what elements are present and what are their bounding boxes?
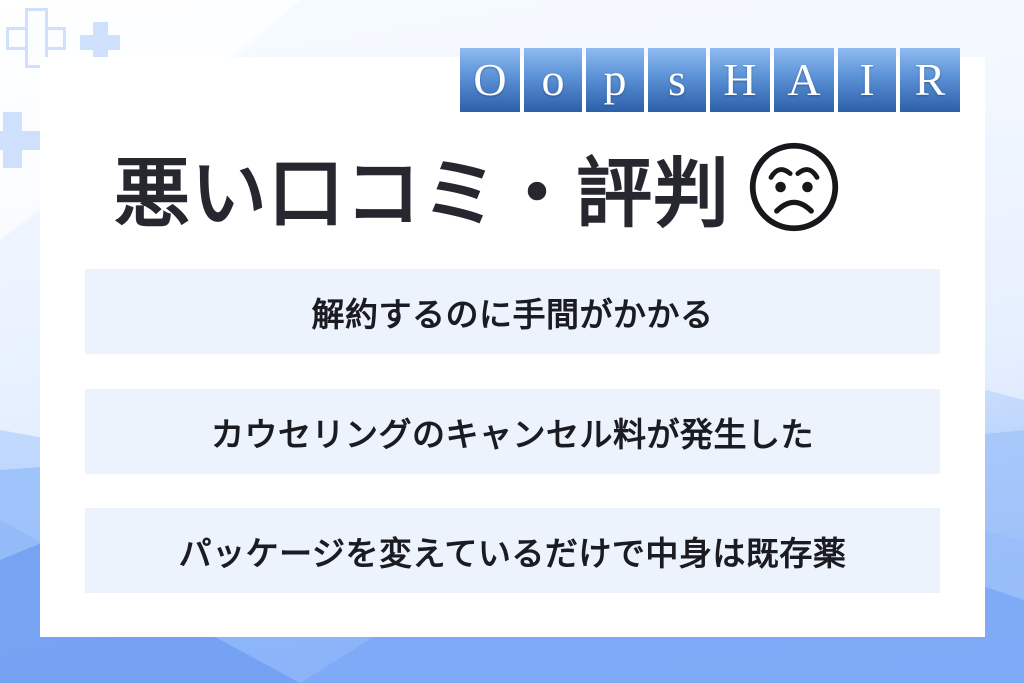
logo-tile-6: I [838,48,896,112]
review-band: カウセリングのキャンセル料が発生した [85,389,940,474]
review-band: 解約するのに手間がかかる [85,269,940,354]
review-text: 解約するのに手間がかかる [312,288,714,336]
headline-row: 悪い口コミ・評判 [114,129,994,245]
logo-tile-0: O [460,48,520,112]
content-card: 悪い口コミ・評判 解約するのに手間がかかる カウセリングのキャンセル料が発生した… [40,57,985,637]
page-title: 悪い口コミ・評判 [114,132,730,242]
brand-logo: O o p s H A I R [460,48,960,112]
logo-tile-2: p [586,48,644,112]
review-band: パッケージを変えているだけで中身は既存薬 [85,508,940,593]
plus-bar-vertical [93,22,108,62]
plus-small-icon [80,22,120,62]
logo-tile-1: o [524,48,582,112]
logo-tile-4: H [710,48,770,112]
poster-canvas: 悪い口コミ・評判 解約するのに手間がかかる カウセリングのキャンセル料が発生した… [0,0,1024,683]
review-text: パッケージを変えているだけで中身は既存薬 [179,527,847,575]
plus-left-icon [0,112,40,168]
logo-tile-3: s [648,48,706,112]
review-text: カウセリングのキャンセル料が発生した [211,408,814,456]
logo-tile-5: A [774,48,834,112]
logo-tile-7: R [900,48,960,112]
worried-sad-face-icon [746,139,842,235]
plus-bar-vertical [3,112,22,168]
